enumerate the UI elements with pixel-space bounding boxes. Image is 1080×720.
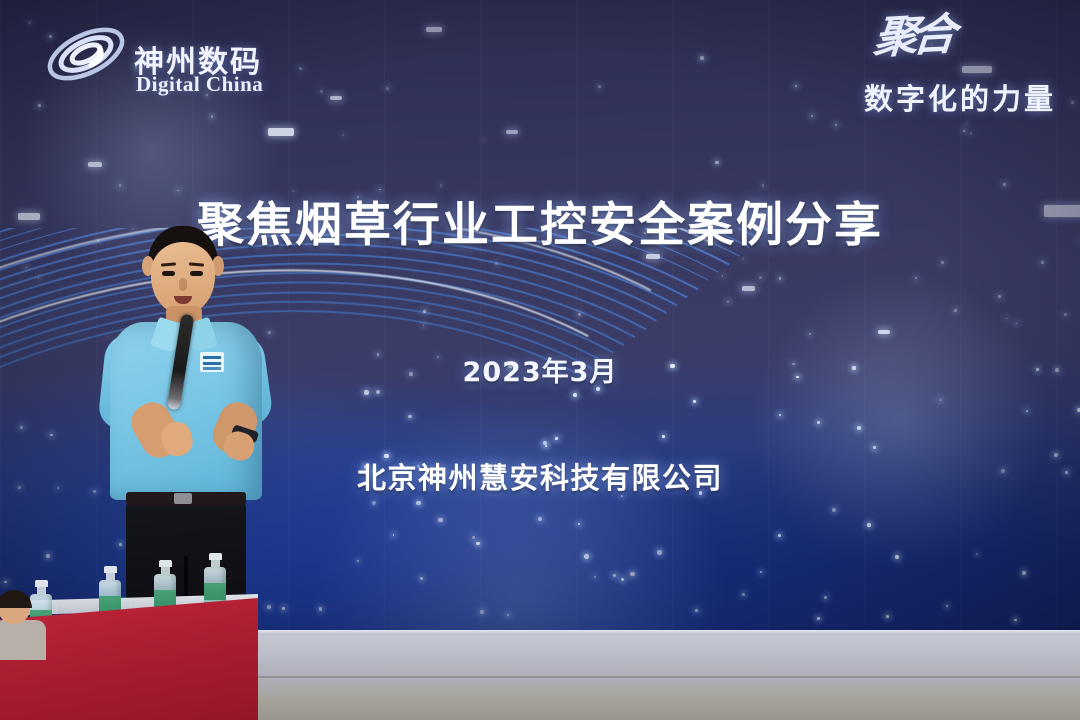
particle-dot [299,67,302,70]
particle-dot [759,276,762,279]
bottle-cap [35,580,48,587]
speaker-nose [179,278,187,291]
particle-dot [715,161,718,164]
particle-dot [1071,101,1074,104]
particle-dot [423,310,426,313]
particle-dot [320,90,323,93]
particle-dot [364,390,368,394]
speaker-eye-right [190,271,203,276]
particle-dot [376,390,380,394]
particle-dot [38,277,39,278]
digital-china-swirl-mark [44,18,128,90]
light-reflection-bar [426,27,442,32]
bottle-neck [161,567,170,574]
attendee-body [0,620,46,660]
particle-dot [795,85,797,87]
particle-dot [408,415,411,418]
particle-dot [483,139,484,140]
particle-dot [1077,408,1080,412]
event-calligraphy: 聚合 [872,14,952,60]
bottle-cap [159,560,172,567]
bottle-label [204,583,226,600]
bottle-cap [209,553,222,560]
digital-china-logo: 神州数码 Digital China [44,16,284,94]
bottle-neck [211,560,220,567]
conference-stage-photo: 神州数码 Digital China 聚合 数字化的力量 聚焦烟草行业工控安全案… [0,0,1080,720]
particle-dot [50,434,53,437]
particle-dot [966,123,967,124]
bottle-label [154,590,176,607]
seated-attendee [0,594,54,654]
brand-name-en: Digital China [136,72,263,97]
particle-dot [963,130,965,132]
particle-dot [26,267,27,268]
speaker-belt-buckle [174,493,192,504]
particle-dot [970,132,972,134]
event-subtitle: 数字化的力量 [864,76,1056,118]
bottle-neck [106,573,115,580]
bottle-cap [104,566,117,573]
particle-dot [28,21,31,24]
particle-dot [662,435,665,438]
particle-dot [742,593,745,596]
event-logo: 聚合 数字化的力量 [808,14,1058,118]
light-reflection-bar [742,286,755,291]
particle-dot [598,85,601,88]
light-reflection-bar [330,96,342,100]
particle-dot [817,617,820,620]
particle-dot [1064,313,1067,316]
particle-dot [342,134,344,136]
particle-dot [835,124,837,126]
bottle-neck [37,587,46,594]
light-reflection-bar [506,130,518,134]
speaker-eye-left [162,271,175,276]
ambient-glow [750,270,1050,570]
particle-dot [700,56,703,59]
particle-dot [1014,619,1017,622]
speaker-chest-logo [200,352,224,372]
particle-dot [386,87,389,90]
particle-dot [946,605,948,607]
particle-dot [824,596,827,599]
